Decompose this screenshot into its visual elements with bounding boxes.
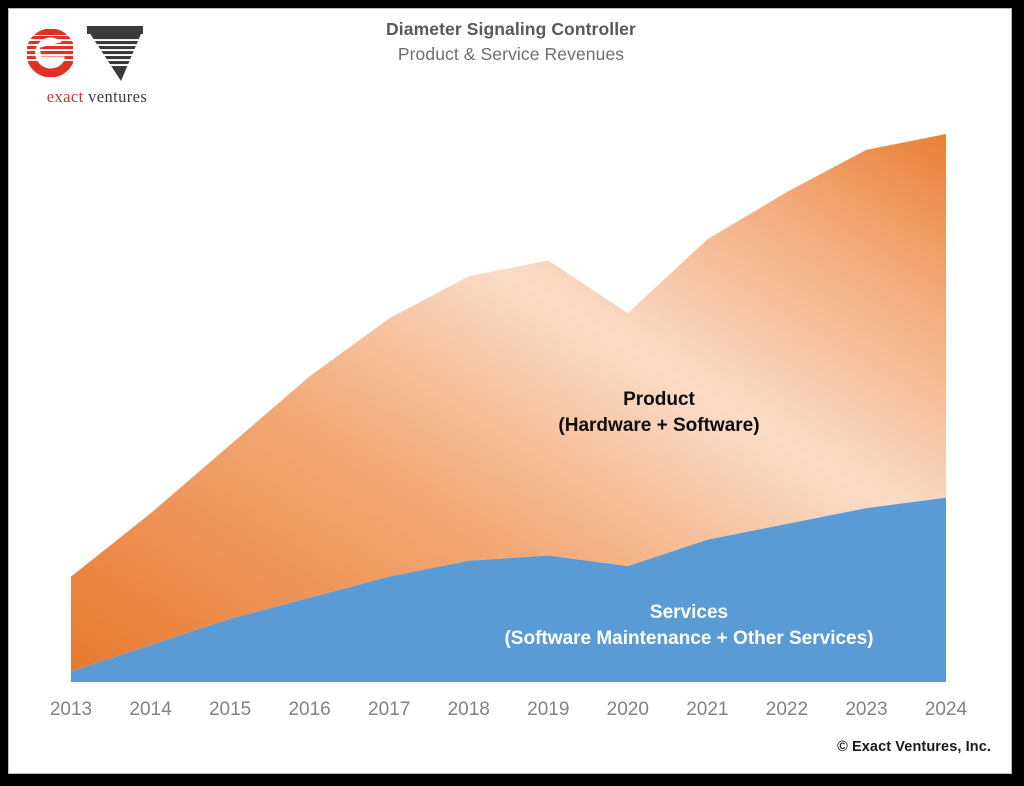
x-axis: 2013201420152016201720182019202020212022… [9, 697, 1012, 727]
x-axis-tick-2013: 2013 [36, 697, 106, 723]
x-axis-tick-2020: 2020 [593, 697, 663, 723]
x-axis-tick-2024: 2024 [911, 697, 981, 723]
stacked-area-chart [9, 9, 1012, 774]
x-axis-tick-2023: 2023 [831, 697, 901, 723]
x-axis-tick-2019: 2019 [513, 697, 583, 723]
x-axis-tick-2016: 2016 [275, 697, 345, 723]
x-axis-tick-2018: 2018 [434, 697, 504, 723]
x-axis-tick-2017: 2017 [354, 697, 424, 723]
chart-svg [9, 9, 1012, 774]
x-axis-tick-2014: 2014 [116, 697, 186, 723]
copyright-notice: © Exact Ventures, Inc. [837, 739, 991, 755]
x-axis-tick-2015: 2015 [195, 697, 265, 723]
chart-card: exact ventures Diameter Signaling Contro… [8, 8, 1012, 774]
x-axis-tick-2021: 2021 [672, 697, 742, 723]
x-axis-tick-2022: 2022 [752, 697, 822, 723]
